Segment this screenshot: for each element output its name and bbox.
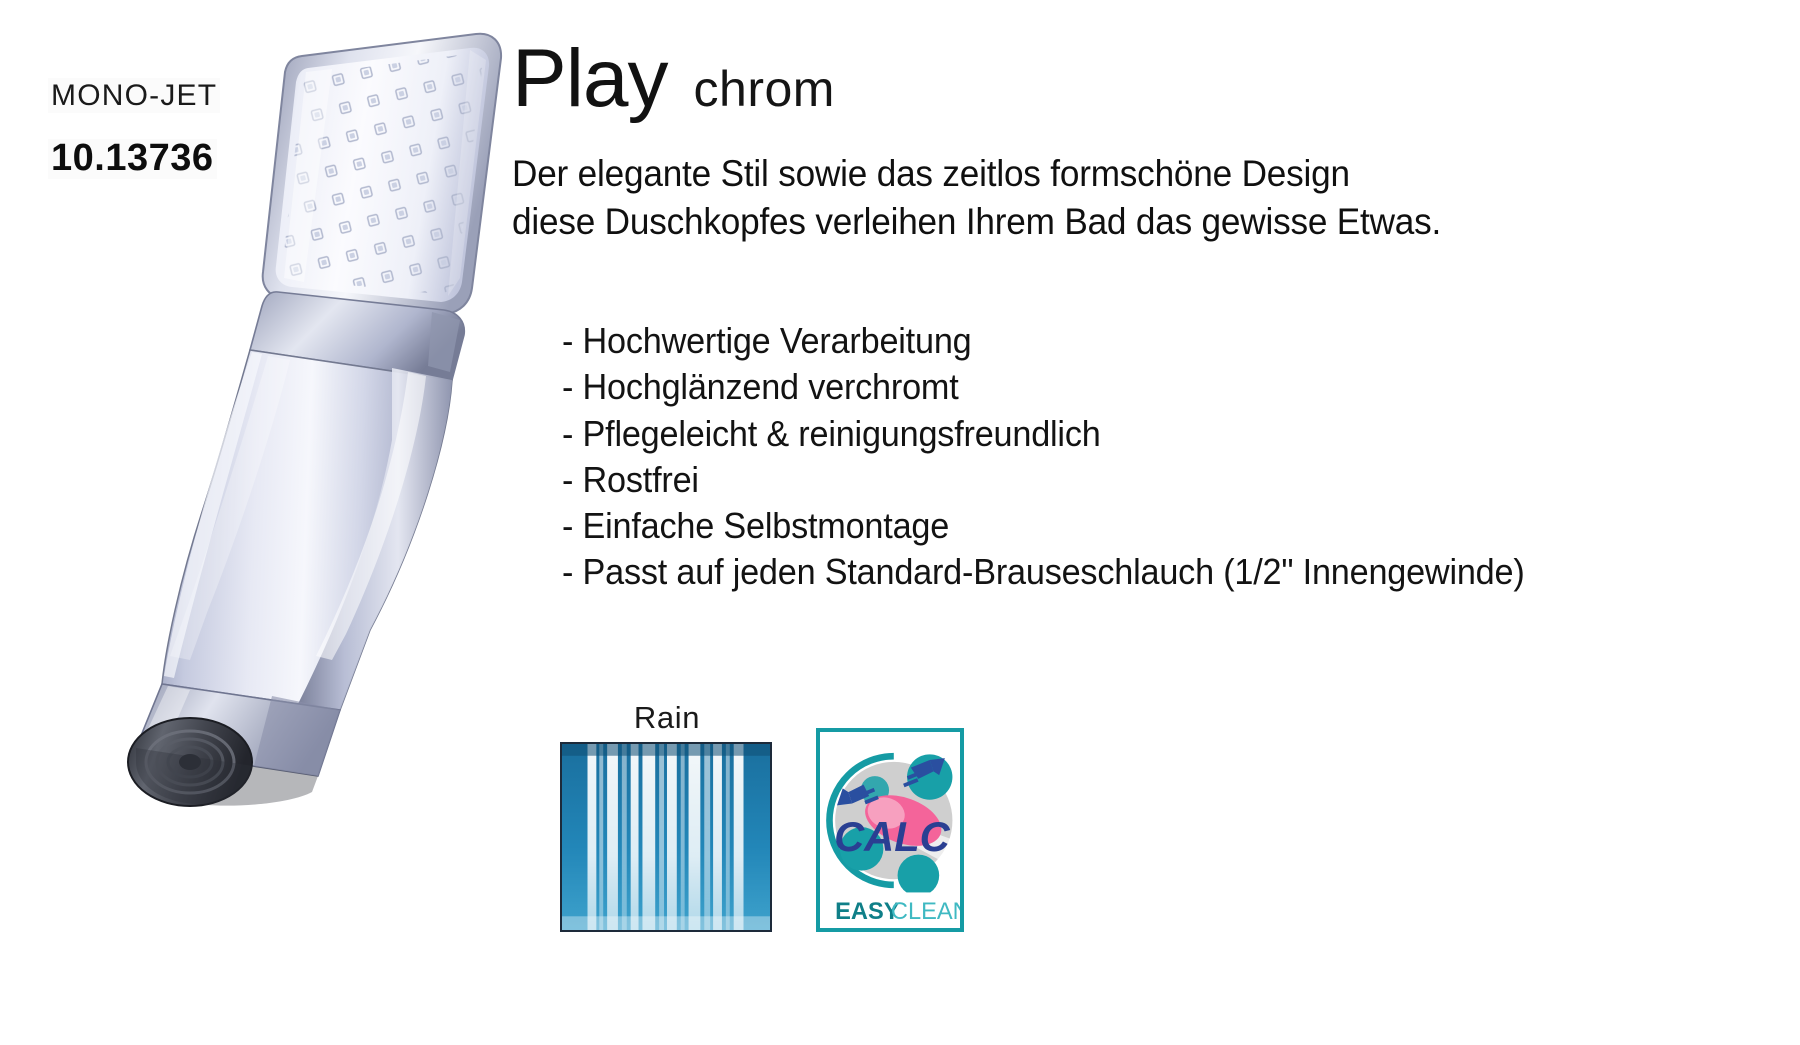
product-series-label: MONO-JET (48, 78, 220, 113)
calc-word: CALC (834, 813, 951, 860)
product-finish: chrom (694, 64, 835, 114)
product-name: Play (512, 38, 668, 120)
badge-row: Rain (560, 700, 964, 932)
feature-item: - Einfache Selbstmontage (562, 503, 1721, 549)
description-line-2: diese Duschkopfes verleihen Ihrem Bad da… (512, 198, 1719, 246)
feature-item: - Hochglänzend verchromt (562, 364, 1721, 410)
feature-list: - Hochwertige Verarbeitung - Hochglänzen… (562, 318, 1782, 596)
spray-mode-badge: Rain (560, 700, 774, 932)
description-line-1: Der elegante Stil sowie das zeitlos form… (512, 150, 1719, 198)
product-label-block: MONO-JET 10.13736 (48, 78, 278, 179)
easyclean-anticalc-logo: CALC EASY CLEAN (816, 728, 964, 932)
rain-spray-icon (560, 742, 772, 932)
product-description: Der elegante Stil sowie das zeitlos form… (512, 150, 1782, 246)
article-number: 10.13736 (48, 139, 217, 179)
feature-item: - Hochwertige Verarbeitung (562, 318, 1721, 364)
clean-word: CLEAN (891, 899, 960, 925)
feature-item: - Rostfrei (562, 457, 1721, 503)
spray-mode-label: Rain (560, 700, 774, 736)
product-content: Play chrom Der elegante Stil sowie das z… (512, 38, 1782, 596)
feature-item: - Pflegeleicht & reinigungsfreundlich (562, 411, 1721, 457)
product-title-row: Play chrom (512, 38, 1782, 134)
feature-item: - Passt auf jeden Standard-Brauseschlauc… (562, 549, 1721, 595)
